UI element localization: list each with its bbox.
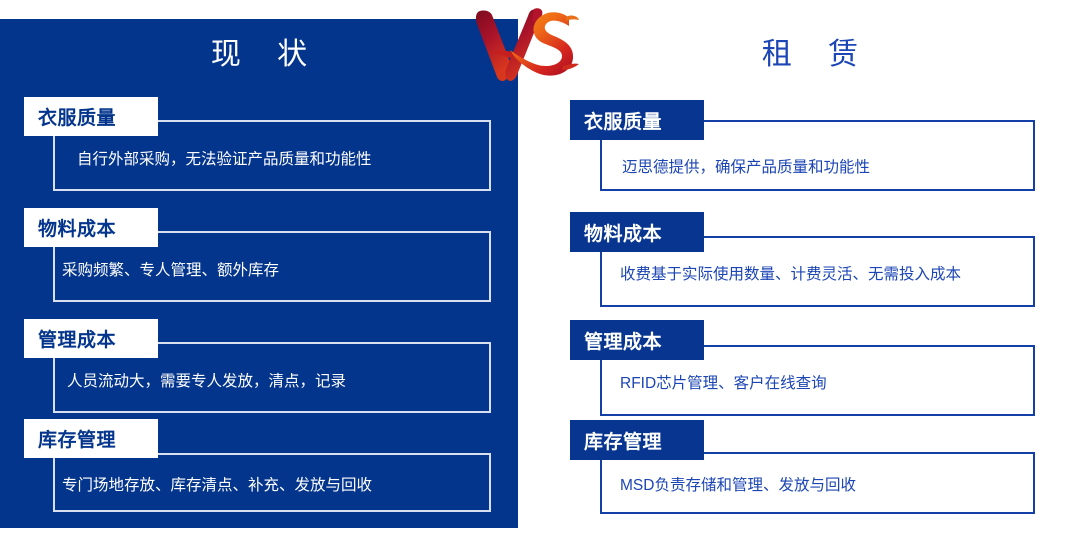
right-card-2-text: 收费基于实际使用数量、计费灵活、无需投入成本 xyxy=(620,262,961,284)
right-card-3-label: 管理成本 xyxy=(570,320,704,360)
left-card-1-label: 衣服质量 xyxy=(24,97,158,136)
vs-badge-icon xyxy=(470,6,580,106)
right-card-4-text: MSD负责存储和管理、发放与回收 xyxy=(620,473,856,495)
left-card-2-label: 物料成本 xyxy=(24,208,158,247)
left-card-4-label: 库存管理 xyxy=(24,419,158,458)
left-card-3-label: 管理成本 xyxy=(24,319,158,358)
left-card-1-text: 自行外部采购，无法验证产品质量和功能性 xyxy=(77,147,372,169)
right-card-3-text: RFID芯片管理、客户在线查询 xyxy=(620,371,827,393)
left-card-4-text: 专门场地存放、库存清点、补充、发放与回收 xyxy=(62,473,372,495)
right-card-1-text: 迈思德提供，确保产品质量和功能性 xyxy=(622,155,870,177)
left-card-2-text: 采购频繁、专人管理、额外库存 xyxy=(62,258,279,280)
right-column-title: 租 赁 xyxy=(540,32,1080,78)
left-card-3-text: 人员流动大，需要专人发放，清点，记录 xyxy=(67,369,346,391)
right-card-1-label: 衣服质量 xyxy=(570,100,704,140)
comparison-slide: 现 状 租 赁 衣服质量 自行外部采购，无法验证产品质量和功能性 物料成本 采购… xyxy=(0,0,1080,536)
right-card-4-label: 库存管理 xyxy=(570,420,704,460)
left-column-title: 现 状 xyxy=(0,32,518,78)
right-card-2-label: 物料成本 xyxy=(570,212,704,252)
